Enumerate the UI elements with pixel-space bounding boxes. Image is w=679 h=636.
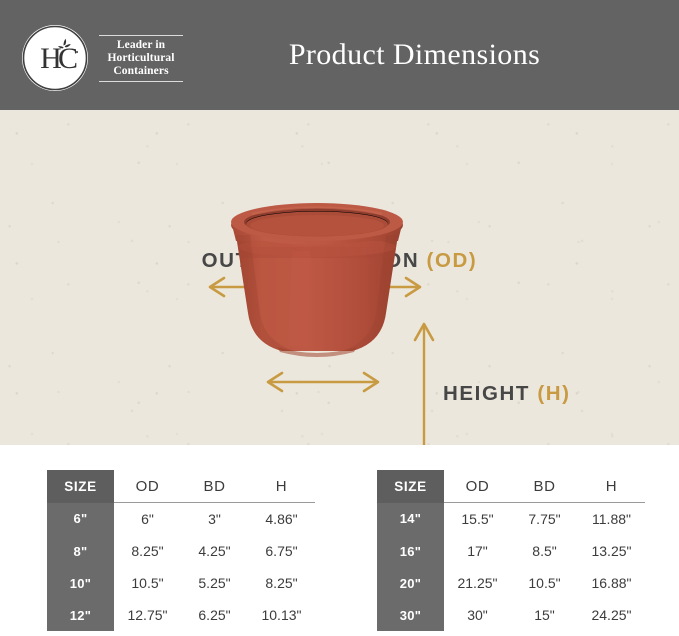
cell-bd: 10.5" bbox=[511, 567, 578, 599]
cell-od: 21.25" bbox=[444, 567, 511, 599]
cell-od: 6" bbox=[114, 503, 181, 536]
cell-h: 13.25" bbox=[578, 535, 645, 567]
table-row: 20" 21.25" 10.5" 16.88" bbox=[377, 567, 645, 599]
outer-dimension-label: OUTER DIMENSION (OD) bbox=[0, 249, 679, 273]
cell-h: 6.75" bbox=[248, 535, 315, 567]
cell-od: 10.5" bbox=[114, 567, 181, 599]
cell-h: 11.88" bbox=[578, 503, 645, 536]
table-row: 12" 12.75" 6.25" 10.13" bbox=[47, 599, 315, 631]
cell-h: 10.13" bbox=[248, 599, 315, 631]
cell-h: 24.25" bbox=[578, 599, 645, 631]
cell-od: 8.25" bbox=[114, 535, 181, 567]
table-header-row: SIZE OD BD H bbox=[377, 470, 645, 503]
table-row: 10" 10.5" 5.25" 8.25" bbox=[47, 567, 315, 599]
cell-size: 10" bbox=[47, 567, 114, 599]
cell-bd: 6.25" bbox=[181, 599, 248, 631]
height-text: HEIGHT bbox=[443, 382, 537, 405]
column-header-h: H bbox=[578, 470, 645, 503]
dimension-table-large: SIZE OD BD H 14" 15.5" 7.75" 11.88" 16" … bbox=[377, 470, 645, 631]
page-header: H C Leader in Horticultural Containers P… bbox=[0, 0, 679, 110]
cell-bd: 7.75" bbox=[511, 503, 578, 536]
cell-bd: 3" bbox=[181, 503, 248, 536]
table-row: 8" 8.25" 4.25" 6.75" bbox=[47, 535, 315, 567]
column-header-h: H bbox=[248, 470, 315, 503]
dimension-table-small: SIZE OD BD H 6" 6" 3" 4.86" 8" 8.25" 4.2… bbox=[47, 470, 315, 631]
cell-od: 15.5" bbox=[444, 503, 511, 536]
cell-od: 12.75" bbox=[114, 599, 181, 631]
table-row: 6" 6" 3" 4.86" bbox=[47, 503, 315, 536]
cell-od: 17" bbox=[444, 535, 511, 567]
column-header-size: SIZE bbox=[377, 470, 444, 503]
cell-size: 8" bbox=[47, 535, 114, 567]
table-row: 30" 30" 15" 24.25" bbox=[377, 599, 645, 631]
tagline-line-3: Containers bbox=[107, 65, 174, 78]
column-header-od: OD bbox=[444, 470, 511, 503]
cell-size: 12" bbox=[47, 599, 114, 631]
cell-size: 30" bbox=[377, 599, 444, 631]
cell-size: 6" bbox=[47, 503, 114, 536]
cell-bd: 8.5" bbox=[511, 535, 578, 567]
dimension-tables: SIZE OD BD H 6" 6" 3" 4.86" 8" 8.25" 4.2… bbox=[0, 470, 679, 636]
diagram-panel: OUTER DIMENSION (OD) bbox=[0, 110, 679, 445]
tagline-line-1: Leader in bbox=[107, 39, 174, 52]
cell-bd: 5.25" bbox=[181, 567, 248, 599]
column-header-bd: BD bbox=[511, 470, 578, 503]
table-header-row: SIZE OD BD H bbox=[47, 470, 315, 503]
brand-tagline: Leader in Horticultural Containers bbox=[99, 34, 183, 83]
tagline-rule-top bbox=[99, 35, 183, 36]
tagline-rule-bottom bbox=[99, 81, 183, 82]
cell-bd: 4.25" bbox=[181, 535, 248, 567]
height-code: (H) bbox=[537, 382, 570, 405]
brand-logo: H C Leader in Horticultural Containers bbox=[20, 22, 190, 94]
panel-background bbox=[0, 110, 679, 445]
outer-dimension-code: (OD) bbox=[427, 249, 478, 272]
cell-size: 16" bbox=[377, 535, 444, 567]
height-label: HEIGHT (H) bbox=[443, 382, 571, 406]
column-header-bd: BD bbox=[181, 470, 248, 503]
cell-od: 30" bbox=[444, 599, 511, 631]
cell-size: 20" bbox=[377, 567, 444, 599]
column-header-size: SIZE bbox=[47, 470, 114, 503]
cell-h: 16.88" bbox=[578, 567, 645, 599]
cell-size: 14" bbox=[377, 503, 444, 536]
column-header-od: OD bbox=[114, 470, 181, 503]
hc-logo-icon: H C bbox=[20, 23, 90, 93]
table-row: 14" 15.5" 7.75" 11.88" bbox=[377, 503, 645, 536]
cell-bd: 15" bbox=[511, 599, 578, 631]
outer-dimension-text: OUTER DIMENSION bbox=[202, 249, 427, 272]
table-row: 16" 17" 8.5" 13.25" bbox=[377, 535, 645, 567]
cell-h: 4.86" bbox=[248, 503, 315, 536]
tagline-line-2: Horticultural bbox=[107, 52, 174, 65]
cell-h: 8.25" bbox=[248, 567, 315, 599]
